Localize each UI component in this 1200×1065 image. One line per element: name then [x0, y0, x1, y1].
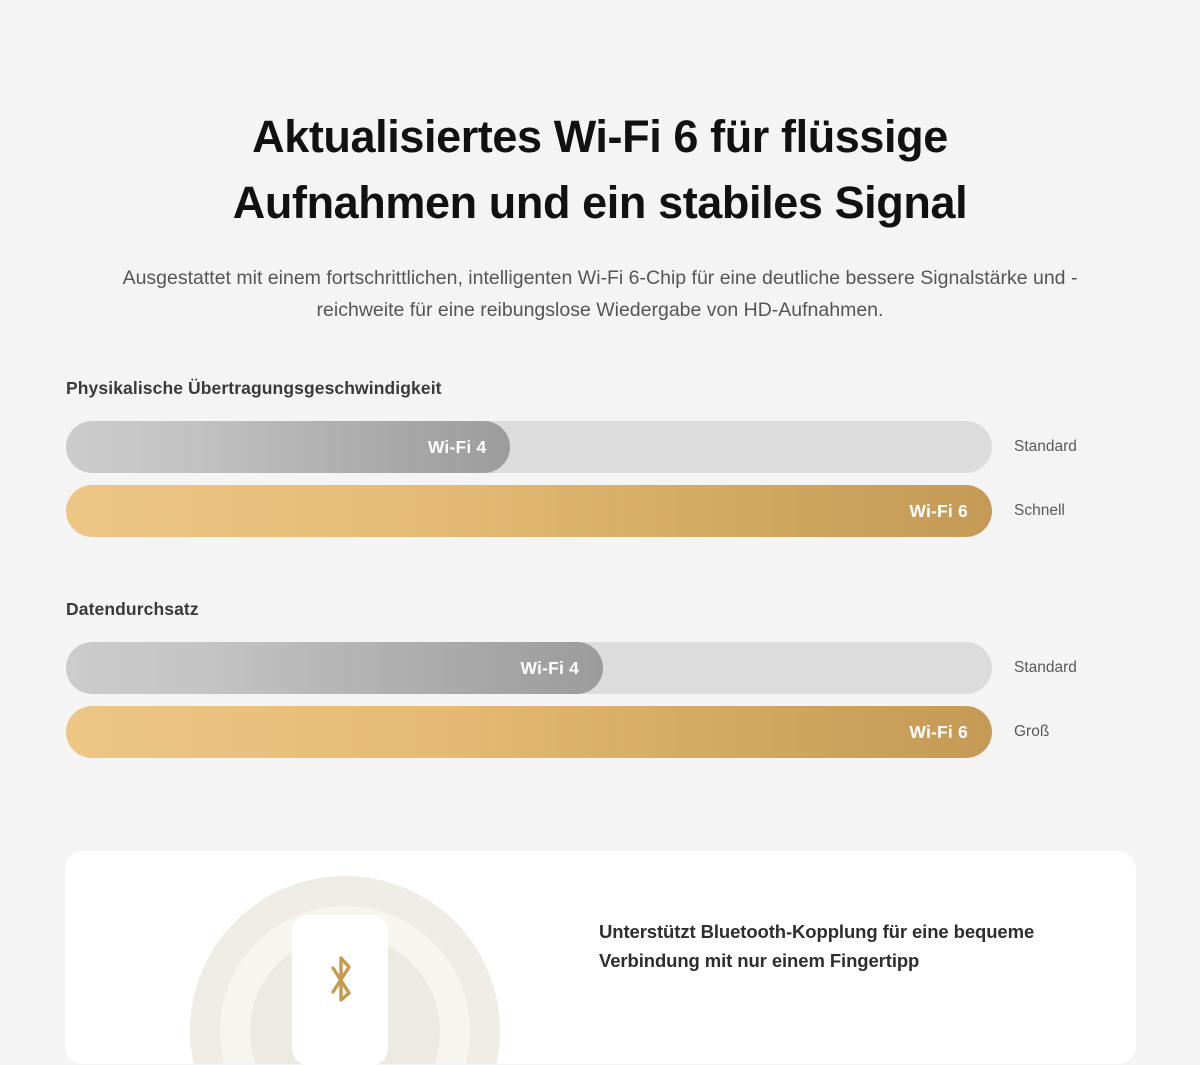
- bar-track: Wi-Fi 6: [66, 706, 992, 758]
- group-title: Physikalische Übertragungsgeschwindigkei…: [66, 378, 1136, 399]
- hero-section: Aktualisiertes Wi-Fi 6 für flüssige Aufn…: [0, 0, 1200, 326]
- bar-track: Wi-Fi 4: [66, 421, 992, 473]
- bar-label: Wi-Fi 6: [909, 501, 968, 522]
- bar-fill-wifi6: Wi-Fi 6: [66, 485, 992, 537]
- bar-side-label: Groß: [1014, 723, 1049, 741]
- bar-track: Wi-Fi 4: [66, 642, 992, 694]
- group-data-throughput: Datendurchsatz Wi-Fi 4 Standard Wi-Fi 6 …: [66, 599, 1136, 758]
- bar-label: Wi-Fi 6: [909, 722, 968, 743]
- bar-fill-wifi4: Wi-Fi 4: [66, 421, 510, 473]
- bar-track: Wi-Fi 6: [66, 485, 992, 537]
- page-subtitle: Ausgestattet mit einem fortschrittlichen…: [85, 262, 1115, 326]
- bar-side-label: Standard: [1014, 659, 1077, 677]
- page-title: Aktualisiertes Wi-Fi 6 für flüssige Aufn…: [150, 104, 1050, 236]
- bar-row: Wi-Fi 6 Schnell: [66, 485, 1136, 537]
- bar-fill-wifi4: Wi-Fi 4: [66, 642, 603, 694]
- bluetooth-card-text: Unterstützt Bluetooth-Kopplung für eine …: [599, 917, 1136, 975]
- bar-row: Wi-Fi 6 Groß: [66, 706, 1136, 758]
- bar-side-label: Schnell: [1014, 502, 1065, 520]
- bar-label: Wi-Fi 4: [520, 658, 579, 679]
- bar-fill-wifi6: Wi-Fi 6: [66, 706, 992, 758]
- group-transmission-speed: Physikalische Übertragungsgeschwindigkei…: [66, 378, 1136, 537]
- bar-row: Wi-Fi 4 Standard: [66, 642, 1136, 694]
- comparison-groups: Physikalische Übertragungsgeschwindigkei…: [0, 378, 1200, 758]
- bluetooth-card: Unterstützt Bluetooth-Kopplung für eine …: [65, 851, 1136, 1064]
- feature-page: Aktualisiertes Wi-Fi 6 für flüssige Aufn…: [0, 0, 1200, 1064]
- bluetooth-icon: [322, 952, 360, 1010]
- bar-row: Wi-Fi 4 Standard: [66, 421, 1136, 473]
- bar-side-label: Standard: [1014, 438, 1077, 456]
- bar-label: Wi-Fi 4: [428, 437, 487, 458]
- group-title: Datendurchsatz: [66, 599, 1136, 620]
